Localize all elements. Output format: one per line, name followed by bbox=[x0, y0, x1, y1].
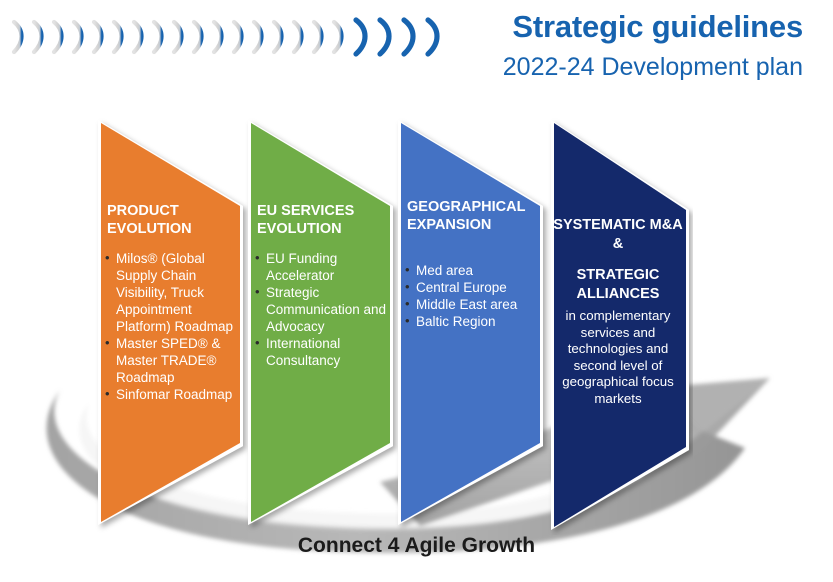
panel-list-geographical-expansion: Med area Central Europe Middle East area… bbox=[405, 262, 545, 330]
list-item: Baltic Region bbox=[405, 313, 545, 330]
list-item: Master SPED® & Master TRADE® Roadmap bbox=[105, 335, 238, 386]
panel-group: PRODUCT EVOLUTION Milos® (Global Supply … bbox=[0, 0, 833, 582]
panel-geographical-expansion[interactable]: GEOGRAPHICAL EXPANSION Med area Central … bbox=[390, 110, 550, 535]
panel-list-product-evolution: Milos® (Global Supply Chain Visibility, … bbox=[105, 250, 238, 403]
list-item: Strategic Communication and Advocacy bbox=[255, 284, 388, 335]
panel-list-eu-services-evolution: EU Funding Accelerator Strategic Communi… bbox=[255, 250, 388, 369]
panel-heading-systematic-ma: SYSTEMATIC M&A & STRATEGIC ALLIANCES bbox=[549, 216, 687, 304]
list-item: EU Funding Accelerator bbox=[255, 250, 388, 284]
panel-heading-product-evolution: PRODUCT EVOLUTION bbox=[107, 202, 250, 238]
list-item: International Consultancy bbox=[255, 335, 388, 369]
panel-heading-geographical-expansion: GEOGRAPHICAL EXPANSION bbox=[407, 198, 550, 234]
list-item: Sinfomar Roadmap bbox=[105, 386, 238, 403]
list-item: Middle East area bbox=[405, 296, 545, 313]
footer-caption: Connect 4 Agile Growth bbox=[0, 534, 833, 558]
list-item: Central Europe bbox=[405, 279, 545, 296]
panel-heading-line2: STRATEGIC ALLIANCES bbox=[549, 266, 687, 304]
panel-systematic-ma-strategic-alliances[interactable]: SYSTEMATIC M&A & STRATEGIC ALLIANCES in … bbox=[543, 110, 693, 535]
list-item: Milos® (Global Supply Chain Visibility, … bbox=[105, 250, 238, 335]
panel-heading-line1: SYSTEMATIC M&A & bbox=[553, 217, 682, 252]
panel-heading-eu-services-evolution: EU SERVICES EVOLUTION bbox=[257, 202, 400, 238]
panel-eu-services-evolution[interactable]: EU SERVICES EVOLUTION EU Funding Acceler… bbox=[240, 110, 400, 535]
list-item: Med area bbox=[405, 262, 545, 279]
panel-body-systematic-ma: in complementary services and technologi… bbox=[546, 308, 690, 407]
panel-product-evolution[interactable]: PRODUCT EVOLUTION Milos® (Global Supply … bbox=[90, 110, 250, 535]
